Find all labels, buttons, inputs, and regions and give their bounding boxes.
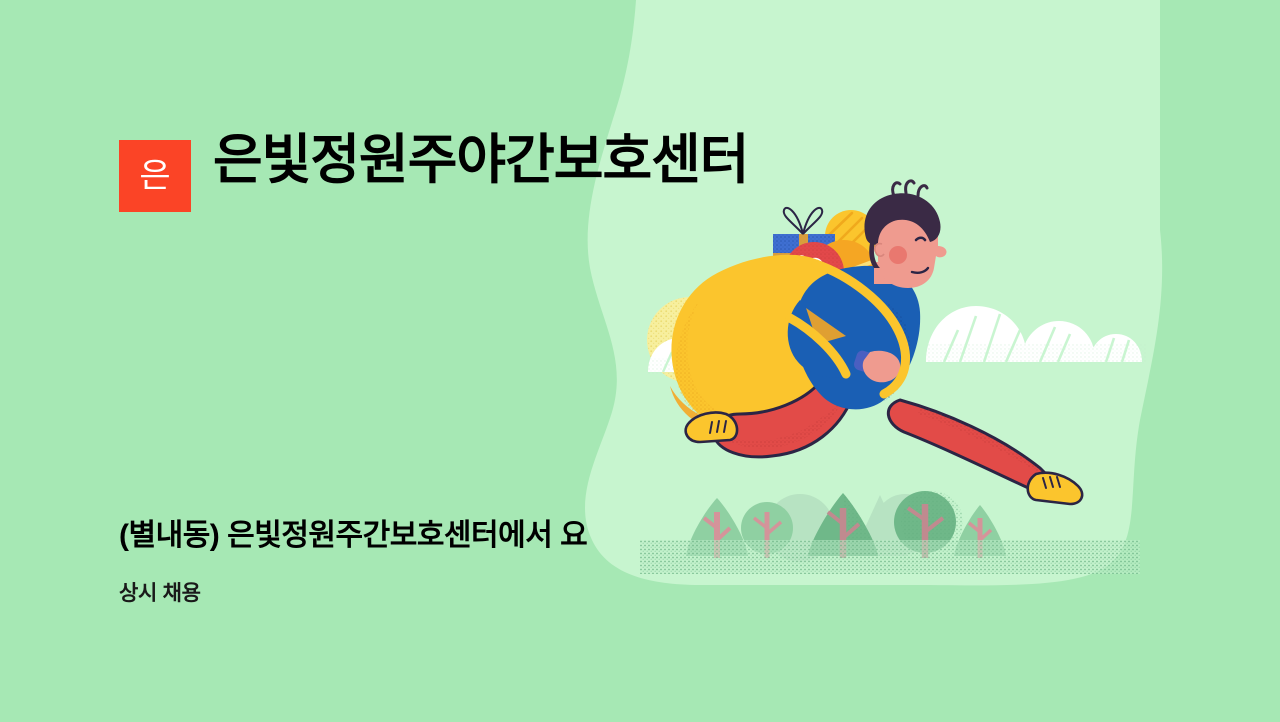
- shoe-back-icon: [1028, 473, 1082, 504]
- ground-speckle: [640, 540, 1140, 574]
- gift-box-icon: [773, 208, 835, 282]
- shoe-front-icon: [686, 412, 737, 442]
- tree-round-2: [741, 502, 793, 558]
- poster-canvas: 은 은빛정원주야간보호센터 (별내동) 은빛정원주간보호센터에서 요 상시 채용: [0, 0, 1280, 722]
- eye: [916, 238, 925, 240]
- sun-icon: [647, 297, 733, 383]
- cloud-right-icon: [926, 306, 1146, 364]
- background-blob: [585, 0, 1162, 585]
- cloud-left-icon: [648, 338, 792, 374]
- company-logo-badge: 은: [119, 140, 191, 212]
- bush-light-2: [875, 494, 935, 554]
- striped-ball-icon: [812, 240, 876, 304]
- man-arm: [788, 300, 900, 382]
- man-hand: [863, 351, 900, 383]
- man-front-leg: [713, 374, 853, 457]
- man-head: [864, 181, 946, 288]
- illustration-running-man-with-gift-sack: [0, 0, 1280, 722]
- tree-cone-3: [808, 493, 878, 558]
- company-name: 은빛정원주야간보호센터: [213, 132, 748, 189]
- gift-sack: [670, 255, 852, 435]
- sack-strap: [816, 264, 906, 394]
- job-posting-status: 상시 채용: [119, 581, 201, 606]
- job-posting-title: (별내동) 은빛정원주간보호센터에서 요: [119, 518, 587, 554]
- sleeve-cuff: [852, 349, 879, 375]
- logo-glyph: 은: [139, 159, 170, 193]
- bush-light-1: [766, 494, 834, 562]
- tree-cone-1: [686, 498, 748, 558]
- poster-header: 은 은빛정원주야간보호센터: [119, 132, 748, 212]
- ear: [875, 244, 884, 257]
- tree-row: [686, 491, 1006, 562]
- man-back-leg: [888, 400, 1059, 498]
- red-ball-icon: [784, 242, 844, 302]
- bush-light-3: [852, 495, 908, 556]
- yellow-striped-ball-icon: [825, 210, 877, 262]
- background-fill: [0, 0, 1280, 722]
- mouth: [912, 268, 928, 273]
- cheek-blush: [889, 246, 907, 264]
- tree-cone-5: [954, 505, 1006, 558]
- sack-strap-lower: [790, 318, 846, 374]
- man-torso: [795, 266, 920, 409]
- tree-round-4: [894, 491, 963, 558]
